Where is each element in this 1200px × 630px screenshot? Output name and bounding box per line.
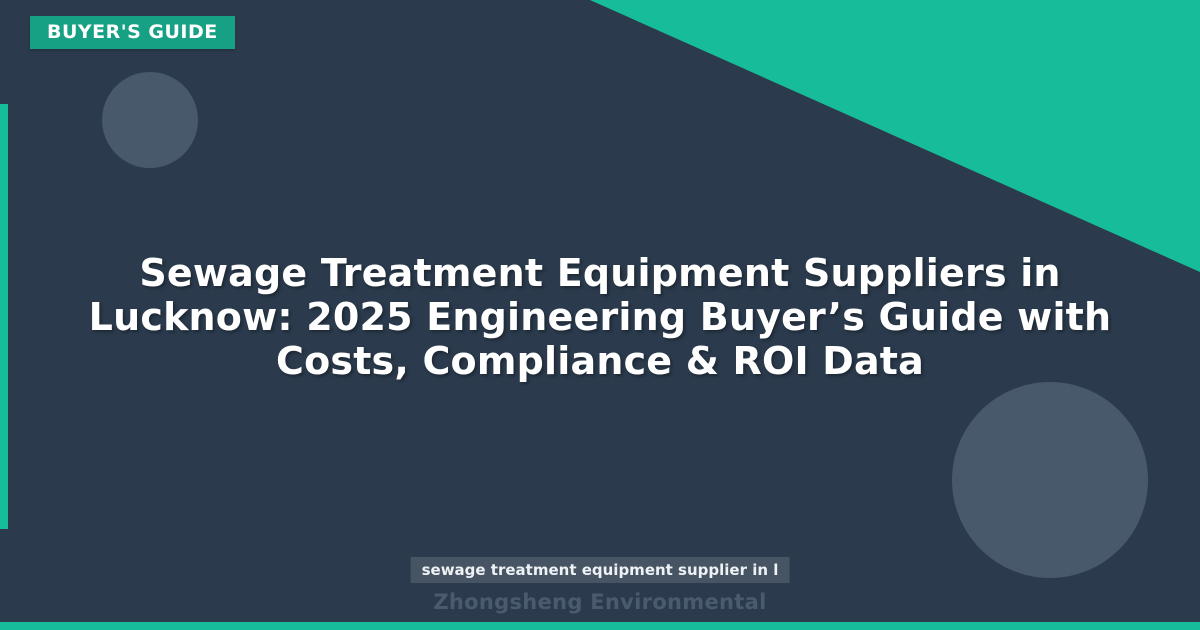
keyword-chip-label: sewage treatment equipment supplier in l <box>422 563 779 578</box>
banner-canvas: BUYER'S GUIDE Sewage Treatment Equipment… <box>0 0 1200 630</box>
bottom-accent-bar <box>0 622 1200 630</box>
buyers-guide-badge: BUYER'S GUIDE <box>30 16 235 49</box>
brand-name: Zhongsheng Environmental <box>0 592 1200 613</box>
decorative-circle-bottom-right <box>952 382 1148 578</box>
left-accent-bar <box>0 104 8 529</box>
keyword-chip: sewage treatment equipment supplier in l <box>411 557 790 583</box>
diagonal-accent-shape <box>590 0 1200 272</box>
decorative-circle-top-left <box>102 72 198 168</box>
badge-label: BUYER'S GUIDE <box>47 23 218 42</box>
page-title: Sewage Treatment Equipment Suppliers in … <box>60 251 1140 383</box>
